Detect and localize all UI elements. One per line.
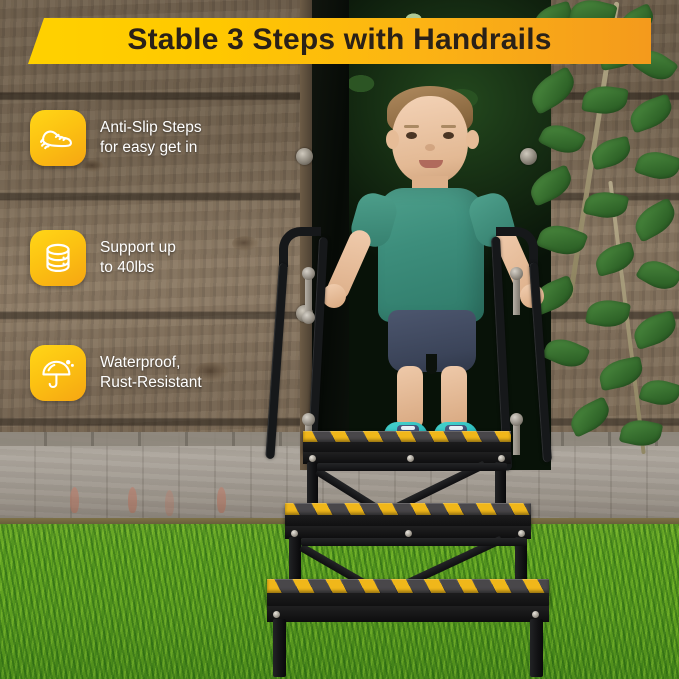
feature-line-1: Support up	[100, 238, 176, 258]
vine-leaf	[638, 375, 679, 410]
anti-slip-stripe-top	[303, 431, 511, 442]
step-horizontal-brace	[317, 463, 507, 471]
step-bolt	[498, 455, 505, 462]
step-bolt	[518, 530, 525, 537]
handrail-bracket	[302, 413, 315, 426]
step-bolt	[309, 455, 316, 462]
vine-leaf	[619, 416, 664, 450]
umbrella-rain-icon	[30, 345, 86, 401]
vine-leaf	[635, 254, 679, 297]
handrail-post-left	[265, 263, 288, 459]
child-ear	[466, 130, 479, 149]
step-leg	[530, 619, 543, 677]
handrail-bracket-arm	[513, 275, 520, 315]
product-marketing-image: Stable 3 Steps with Handrails Anti-Slip …	[0, 0, 679, 679]
feature-text-support: Support up to 40lbs	[100, 238, 176, 278]
feature-row-anti-slip: Anti-Slip Steps for easy get in	[30, 110, 202, 166]
handrail-bracket	[510, 413, 523, 426]
handrail-bracket	[510, 267, 523, 280]
vine-leaf	[537, 118, 586, 160]
feature-line-1: Waterproof,	[100, 353, 202, 373]
step-bolt	[532, 611, 539, 618]
feature-row-waterproof: Waterproof, Rust-Resistant	[30, 345, 202, 401]
handrail-curve-left	[279, 227, 321, 267]
step-tread-top	[303, 431, 511, 453]
handrail-bracket	[302, 311, 315, 324]
vine-leaf	[565, 396, 614, 438]
rust-stain	[128, 487, 137, 513]
step-bolt	[291, 530, 298, 537]
step-tread-middle	[285, 503, 531, 527]
step-bolt	[273, 611, 280, 618]
door-hinge-icon	[296, 148, 313, 165]
step-bolt	[407, 455, 414, 462]
title-banner: Stable 3 Steps with Handrails	[28, 18, 651, 64]
step-bolt	[405, 530, 412, 537]
child-eye	[443, 132, 454, 139]
vine-leaf	[529, 66, 581, 115]
step-tread-bottom	[267, 579, 549, 607]
child-brow	[441, 125, 456, 128]
vine-leaf	[529, 164, 577, 207]
step-stool-product	[255, 205, 565, 679]
vine-leaf	[585, 297, 631, 331]
feature-text-anti-slip: Anti-Slip Steps for easy get in	[100, 118, 202, 158]
vine-leaf	[629, 197, 679, 242]
child-nose	[425, 144, 435, 151]
step-horizontal-brace	[301, 538, 527, 546]
banner-title-text: Stable 3 Steps with Handrails	[127, 23, 551, 57]
step-leg	[273, 619, 286, 677]
rust-stain	[165, 490, 174, 516]
rust-stain	[70, 487, 79, 513]
vine-leaf	[630, 310, 679, 350]
vine-leaf	[592, 241, 638, 277]
feature-line-2: Rust-Resistant	[100, 373, 202, 393]
child-ear	[386, 130, 399, 149]
feature-line-2: to 40lbs	[100, 258, 176, 278]
vine-leaf	[581, 83, 628, 117]
feature-row-support: Support up to 40lbs	[30, 230, 176, 286]
running-shoe-icon	[30, 110, 86, 166]
handrail-post-right	[529, 262, 552, 462]
anti-slip-stripe-middle	[285, 503, 531, 515]
feature-text-waterproof: Waterproof, Rust-Resistant	[100, 353, 202, 393]
handrail-bracket	[302, 267, 315, 280]
feature-line-1: Anti-Slip Steps	[100, 118, 202, 138]
child-brow	[404, 125, 419, 128]
vine-leaf	[634, 146, 679, 185]
step-riser-bottom	[267, 606, 549, 622]
stacked-database-icon	[30, 230, 86, 286]
vine-leaf	[583, 188, 629, 222]
rust-stain	[217, 487, 226, 513]
feature-line-2: for easy get in	[100, 138, 202, 158]
anti-slip-stripe-bottom	[267, 579, 549, 593]
child-eye	[406, 132, 417, 139]
handrail-curve-right	[496, 227, 538, 267]
vine-leaf	[626, 93, 677, 133]
vine-leaf	[597, 356, 646, 392]
child-head	[392, 96, 468, 184]
